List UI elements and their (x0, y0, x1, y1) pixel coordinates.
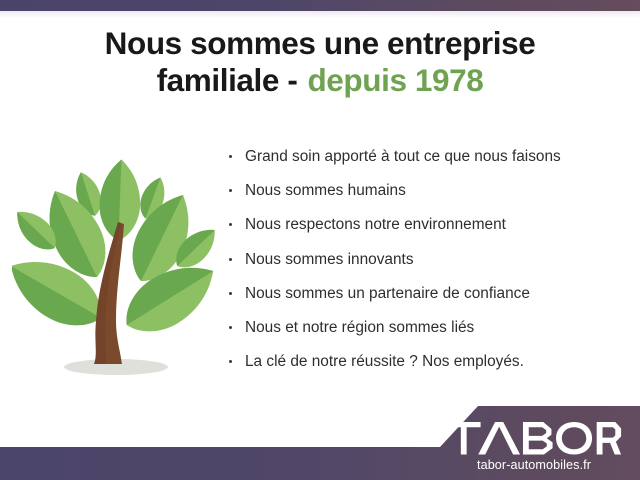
list-item-label: Nous sommes humains (245, 182, 406, 199)
footer-band: tabor-automobiles.fr (0, 400, 640, 480)
list-item-label: Nous respectons notre environnement (245, 216, 506, 233)
list-item: Nous respectons notre environnement (227, 216, 627, 234)
tabor-wordmark (446, 422, 622, 458)
bullet-dot-icon (229, 155, 232, 158)
bullet-dot-icon (229, 292, 232, 295)
page-title-line-1: Nous sommes une entreprise (105, 25, 536, 61)
bullet-dot-icon (229, 326, 232, 329)
bullet-dot-icon (229, 189, 232, 192)
benefits-list: Grand soin apporté à tout ce que nous fa… (227, 148, 627, 387)
family-tree-icon (12, 152, 218, 384)
list-item: Nous sommes humains (227, 182, 627, 200)
list-item-label: Nous sommes un partenaire de confiance (245, 285, 530, 302)
slide-canvas: Nous sommes une entreprise familiale -de… (0, 0, 640, 480)
page-title-line-2-main: familiale - (157, 62, 298, 98)
list-item: Nous et notre région sommes liés (227, 319, 627, 337)
top-accent-bar-fade (0, 11, 640, 18)
list-item-label: Nous et notre région sommes liés (245, 319, 474, 336)
bullet-dot-icon (229, 360, 232, 363)
list-item-label: Nous sommes innovants (245, 251, 414, 268)
brand-tagline: tabor-automobiles.fr (446, 459, 622, 472)
page-title: Nous sommes une entreprise familiale -de… (0, 26, 640, 99)
page-title-accent: depuis 1978 (307, 62, 483, 98)
list-item: Nous sommes innovants (227, 251, 627, 269)
top-accent-bar (0, 0, 640, 11)
page-title-line-2: familiale -depuis 1978 (0, 63, 640, 98)
list-item: La clé de notre réussite ? Nos employés. (227, 353, 627, 371)
bullet-dot-icon (229, 258, 232, 261)
list-item-label: Grand soin apporté à tout ce que nous fa… (245, 148, 561, 165)
list-item: Grand soin apporté à tout ce que nous fa… (227, 148, 627, 166)
list-item: Nous sommes un partenaire de confiance (227, 285, 627, 303)
brand-logo[interactable]: tabor-automobiles.fr (446, 422, 622, 472)
bullet-dot-icon (229, 223, 232, 226)
list-item-label: La clé de notre réussite ? Nos employés. (245, 353, 524, 370)
